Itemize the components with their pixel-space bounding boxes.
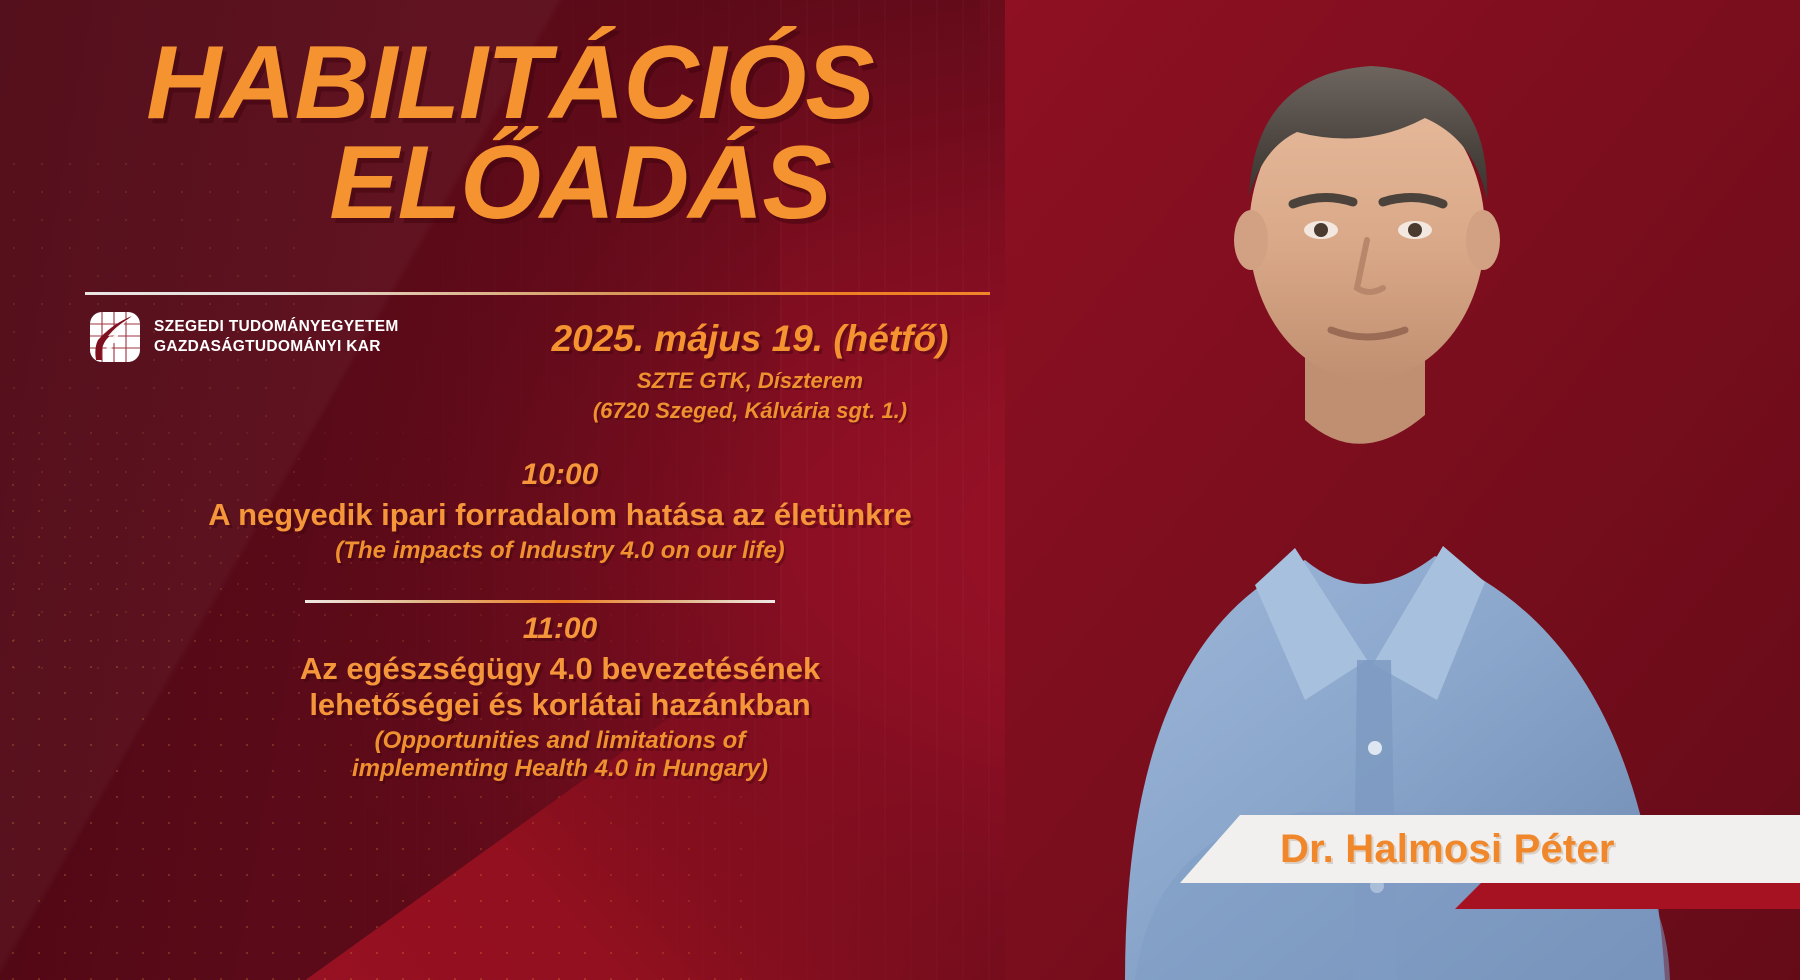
program-2-title-en: (Opportunities and limitations of implem… (60, 727, 1060, 784)
university-name-line-1: SZEGEDI TUDOMÁNYEGYETEM (154, 317, 399, 337)
program-2-title-hu-line-2: lehetőségei és korlátai hazánkban (60, 687, 1060, 723)
event-venue-line-2: (6720 Szeged, Kálvária sgt. 1.) (420, 396, 1080, 426)
university-name-line-2: GAZDASÁGTUDOMÁNYI KAR (154, 337, 399, 357)
program-2-time: 11:00 (60, 612, 1060, 646)
speaker-banner-accent-bar (1455, 883, 1800, 909)
program-2-title-hu: Az egészségügy 4.0 bevezetésének lehetős… (60, 651, 1060, 723)
program-2-title-en-line-1: (Opportunities and limitations of (60, 727, 1060, 755)
habilitation-lecture-poster: HABILITÁCIÓS ELŐADÁS (0, 0, 1800, 980)
event-date: 2025. május 19. (hétfő) (420, 318, 1080, 360)
program-item-1: 10:00 A negyedik ipari forradalom hatása… (60, 458, 1060, 565)
top-divider-rule (85, 292, 990, 295)
university-logo: SZEGEDI TUDOMÁNYEGYETEM GAZDASÁGTUDOMÁNY… (88, 310, 399, 364)
poster-title-line-2: ELŐADÁS (0, 134, 1010, 234)
program-1-title-en: (The impacts of Industry 4.0 on our life… (60, 537, 1060, 565)
university-wordmark: SZEGEDI TUDOMÁNYEGYETEM GAZDASÁGTUDOMÁNY… (154, 317, 399, 357)
event-venue-line-1: SZTE GTK, Díszterem (420, 366, 1080, 396)
speaker-name-banner: Dr. Halmosi Péter (1180, 815, 1800, 883)
poster-title-line-1: HABILITÁCIÓS (0, 34, 1010, 134)
program-2-title-hu-line-1: Az egészségügy 4.0 bevezetésének (60, 651, 1060, 687)
speaker-name: Dr. Halmosi Péter (1180, 827, 1615, 872)
program-divider-rule (305, 600, 775, 603)
program-item-2: 11:00 Az egészségügy 4.0 bevezetésének l… (60, 612, 1060, 784)
poster-title: HABILITÁCIÓS ELŐADÁS (0, 34, 1010, 234)
event-venue: SZTE GTK, Díszterem (6720 Szeged, Kálvár… (420, 366, 1080, 426)
program-1-title-hu: A negyedik ipari forradalom hatása az él… (60, 497, 1060, 533)
szte-quill-grid-logo-icon (88, 310, 142, 364)
event-details: 2025. május 19. (hétfő) SZTE GTK, Díszte… (420, 318, 1080, 426)
program-2-title-en-line-2: implementing Health 4.0 in Hungary) (60, 755, 1060, 783)
program-1-time: 10:00 (60, 458, 1060, 492)
